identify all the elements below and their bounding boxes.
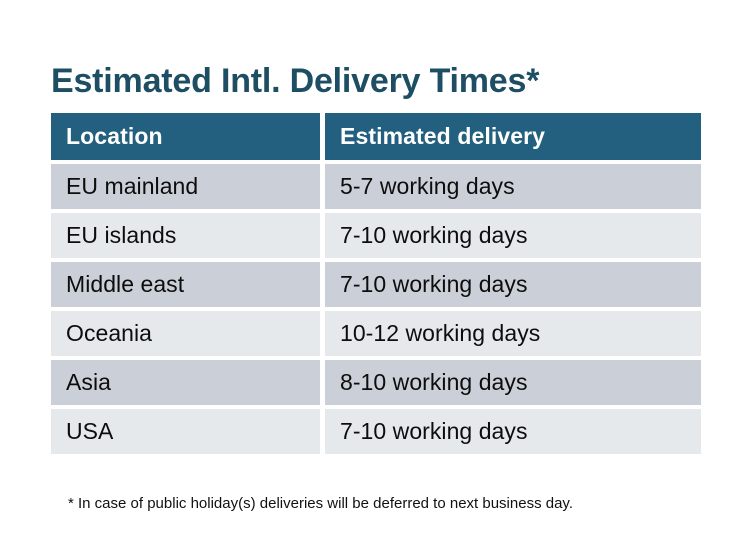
cell-delivery: 7-10 working days [325,213,701,258]
column-header-location: Location [51,113,320,160]
cell-location: Oceania [51,311,320,356]
table-row: Asia 8-10 working days [51,360,701,405]
cell-location: EU mainland [51,164,320,209]
page-title: Estimated Intl. Delivery Times* [51,61,711,101]
cell-delivery: 7-10 working days [325,409,701,454]
cell-delivery: 7-10 working days [325,262,701,307]
cell-location: Asia [51,360,320,405]
table-footnote: * In case of public holiday(s) deliverie… [68,494,708,514]
table-row: EU mainland 5-7 working days [51,164,701,209]
table-row: EU islands 7-10 working days [51,213,701,258]
delivery-times-page: Estimated Intl. Delivery Times* Location… [0,0,745,536]
delivery-table-wrapper: Location Estimated delivery EU mainland … [46,109,696,458]
table-header: Location Estimated delivery [51,113,701,160]
cell-location: EU islands [51,213,320,258]
cell-delivery: 8-10 working days [325,360,701,405]
column-header-estimated-delivery: Estimated delivery [325,113,701,160]
table-body: EU mainland 5-7 working days EU islands … [51,164,701,454]
cell-location: USA [51,409,320,454]
table-row: Oceania 10-12 working days [51,311,701,356]
table-row: Middle east 7-10 working days [51,262,701,307]
cell-delivery: 5-7 working days [325,164,701,209]
cell-location: Middle east [51,262,320,307]
table-row: USA 7-10 working days [51,409,701,454]
table-header-row: Location Estimated delivery [51,113,701,160]
estimated-delivery-times-table: Location Estimated delivery EU mainland … [46,109,706,458]
cell-delivery: 10-12 working days [325,311,701,356]
